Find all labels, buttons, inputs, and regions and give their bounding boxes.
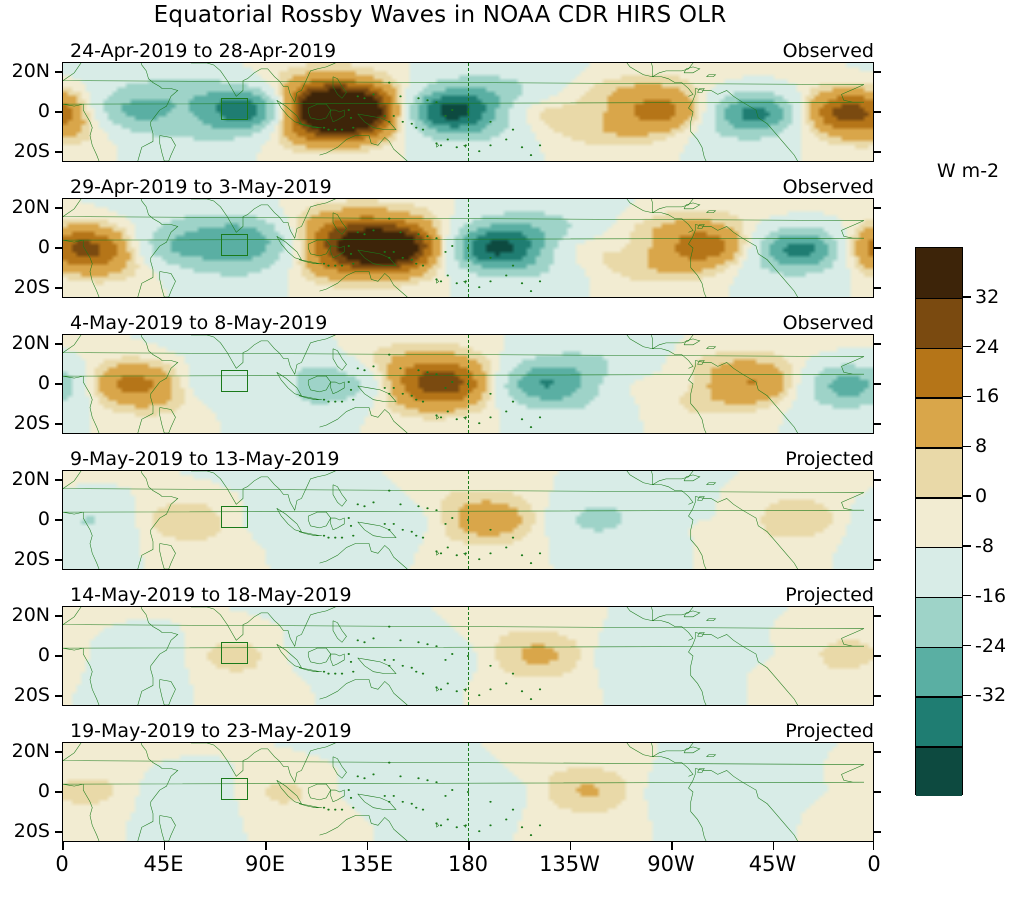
colorbar-segment [916,248,962,298]
panel-date-range: 14-May-2019 to 18-May-2019 [70,584,352,606]
panel-date-range: 19-May-2019 to 23-May-2019 [70,720,352,742]
y-tick [55,655,62,657]
colorbar-segment [916,497,962,547]
map-panel [62,742,874,842]
map-panel [62,606,874,706]
x-tick [671,842,673,850]
index-region-box [221,642,248,664]
y-tick [874,111,881,113]
map-panel [62,62,874,162]
y-axis-label: 0 [0,644,50,666]
panel-date-range: 4-May-2019 to 8-May-2019 [70,312,327,334]
panel-date-range: 9-May-2019 to 13-May-2019 [70,448,339,470]
y-axis-label: 20N [0,196,50,218]
y-tick [874,151,881,153]
colorbar-segment [916,696,962,746]
colorbar-divider [916,497,962,499]
panel-status: Observed [674,40,874,62]
y-tick [55,479,62,481]
colorbar-tick [963,396,971,398]
y-tick [874,519,881,521]
y-axis-label: 0 [0,508,50,530]
colorbar-tick-label: -16 [975,585,1006,607]
y-axis-label: 0 [0,372,50,394]
panel-status: Projected [674,448,874,470]
colorbar-tick-label: 8 [975,435,987,457]
index-region-box [221,98,248,120]
dateline-marker [468,63,469,161]
y-tick [874,791,881,793]
y-tick [874,287,881,289]
x-tick [265,842,267,850]
y-axis-label: 20N [0,332,50,354]
y-tick [55,695,62,697]
y-axis-label: 20N [0,60,50,82]
colorbar-tick-label: 16 [975,385,999,407]
y-tick [874,479,881,481]
y-tick [55,343,62,345]
y-tick [874,695,881,697]
index-region-box [221,370,248,392]
y-axis-label: 20N [0,604,50,626]
colorbar-tick-label: -32 [975,684,1006,706]
dateline-marker [468,199,469,297]
x-axis-label: 180 [448,852,488,876]
panel-status: Observed [674,312,874,334]
colorbar-units: W m-2 [913,160,1021,182]
colorbar-segment [916,547,962,597]
colorbar-tick [963,595,971,597]
map-panel [62,198,874,298]
colorbar-tick [963,346,971,348]
y-axis-label: 20S [0,684,50,706]
x-axis-label: 135E [340,852,393,876]
x-axis-label: 135W [539,852,600,876]
x-axis-label: 0 [55,852,68,876]
x-axis: 045E90E135E180135W90W45W0 [62,842,874,843]
index-region-box [221,234,248,256]
x-tick [570,842,572,850]
colorbar-segment [916,447,962,497]
x-axis-label: 45W [749,852,797,876]
y-tick [55,207,62,209]
x-tick [873,842,875,850]
y-axis-label: 0 [0,100,50,122]
y-tick [55,383,62,385]
x-tick [62,842,64,850]
colorbar-tick [963,446,971,448]
y-tick [55,151,62,153]
colorbar-segment [916,348,962,398]
colorbar-divider [916,298,962,300]
colorbar-tick [963,296,971,298]
colorbar-tick-label: 0 [975,485,987,507]
y-axis-label: 20N [0,740,50,762]
y-tick [55,247,62,249]
colorbar-tick-label: -8 [975,535,994,557]
y-tick [874,615,881,617]
x-tick [773,842,775,850]
panel-date-range: 29-Apr-2019 to 3-May-2019 [70,176,332,198]
x-tick [468,842,470,850]
y-tick [874,655,881,657]
x-axis-label: 90W [647,852,695,876]
colorbar-tick [963,695,971,697]
y-tick [55,287,62,289]
y-tick [874,343,881,345]
dateline-marker [468,743,469,841]
colorbar-tick-label: 32 [975,286,999,308]
y-axis-label: 0 [0,780,50,802]
y-tick [55,751,62,753]
colorbar-divider [916,647,962,649]
index-region-box [221,778,248,800]
panel-status: Projected [674,584,874,606]
colorbar-segment [916,397,962,447]
colorbar-tick [963,495,971,497]
y-tick [55,831,62,833]
colorbar-tick [963,645,971,647]
y-tick [874,559,881,561]
y-axis-label: 0 [0,236,50,258]
colorbar [915,247,963,795]
colorbar-divider [916,348,962,350]
y-tick [55,111,62,113]
colorbar-segment [916,647,962,697]
colorbar-segment [916,298,962,348]
y-axis-label: 20S [0,548,50,570]
colorbar-tick-label: -24 [975,635,1006,657]
y-tick [874,247,881,249]
dateline-marker [468,335,469,433]
x-axis-label: 45E [144,852,184,876]
page-title: Equatorial Rossby Waves in NOAA CDR HIRS… [0,2,880,28]
y-axis-label: 20S [0,140,50,162]
y-tick [874,423,881,425]
colorbar-divider [916,447,962,449]
colorbar-divider [916,696,962,698]
dateline-marker [468,471,469,569]
panel-date-range: 24-Apr-2019 to 28-Apr-2019 [70,40,336,62]
y-axis-label: 20N [0,468,50,490]
index-region-box [221,506,248,528]
x-tick [367,842,369,850]
colorbar-divider [916,547,962,549]
y-tick [55,791,62,793]
colorbar-tick-label: 24 [975,336,999,358]
y-tick [874,383,881,385]
y-axis-label: 20S [0,820,50,842]
y-tick [55,71,62,73]
panel-status: Projected [674,720,874,742]
y-tick [55,423,62,425]
colorbar-tick [963,545,971,547]
map-panel [62,470,874,570]
y-tick [55,559,62,561]
x-axis-label: 90E [245,852,285,876]
x-axis-label: 0 [867,852,880,876]
panel-status: Observed [674,176,874,198]
y-tick [55,519,62,521]
y-tick [874,71,881,73]
colorbar-divider [916,397,962,399]
map-panel [62,334,874,434]
colorbar-segment [916,597,962,647]
y-tick [874,751,881,753]
y-tick [874,831,881,833]
y-tick [874,207,881,209]
y-axis-label: 20S [0,276,50,298]
colorbar-divider [916,746,962,748]
y-axis-label: 20S [0,412,50,434]
colorbar-segment [916,746,962,796]
y-tick [55,615,62,617]
dateline-marker [468,607,469,705]
colorbar-divider [916,597,962,599]
x-tick [164,842,166,850]
